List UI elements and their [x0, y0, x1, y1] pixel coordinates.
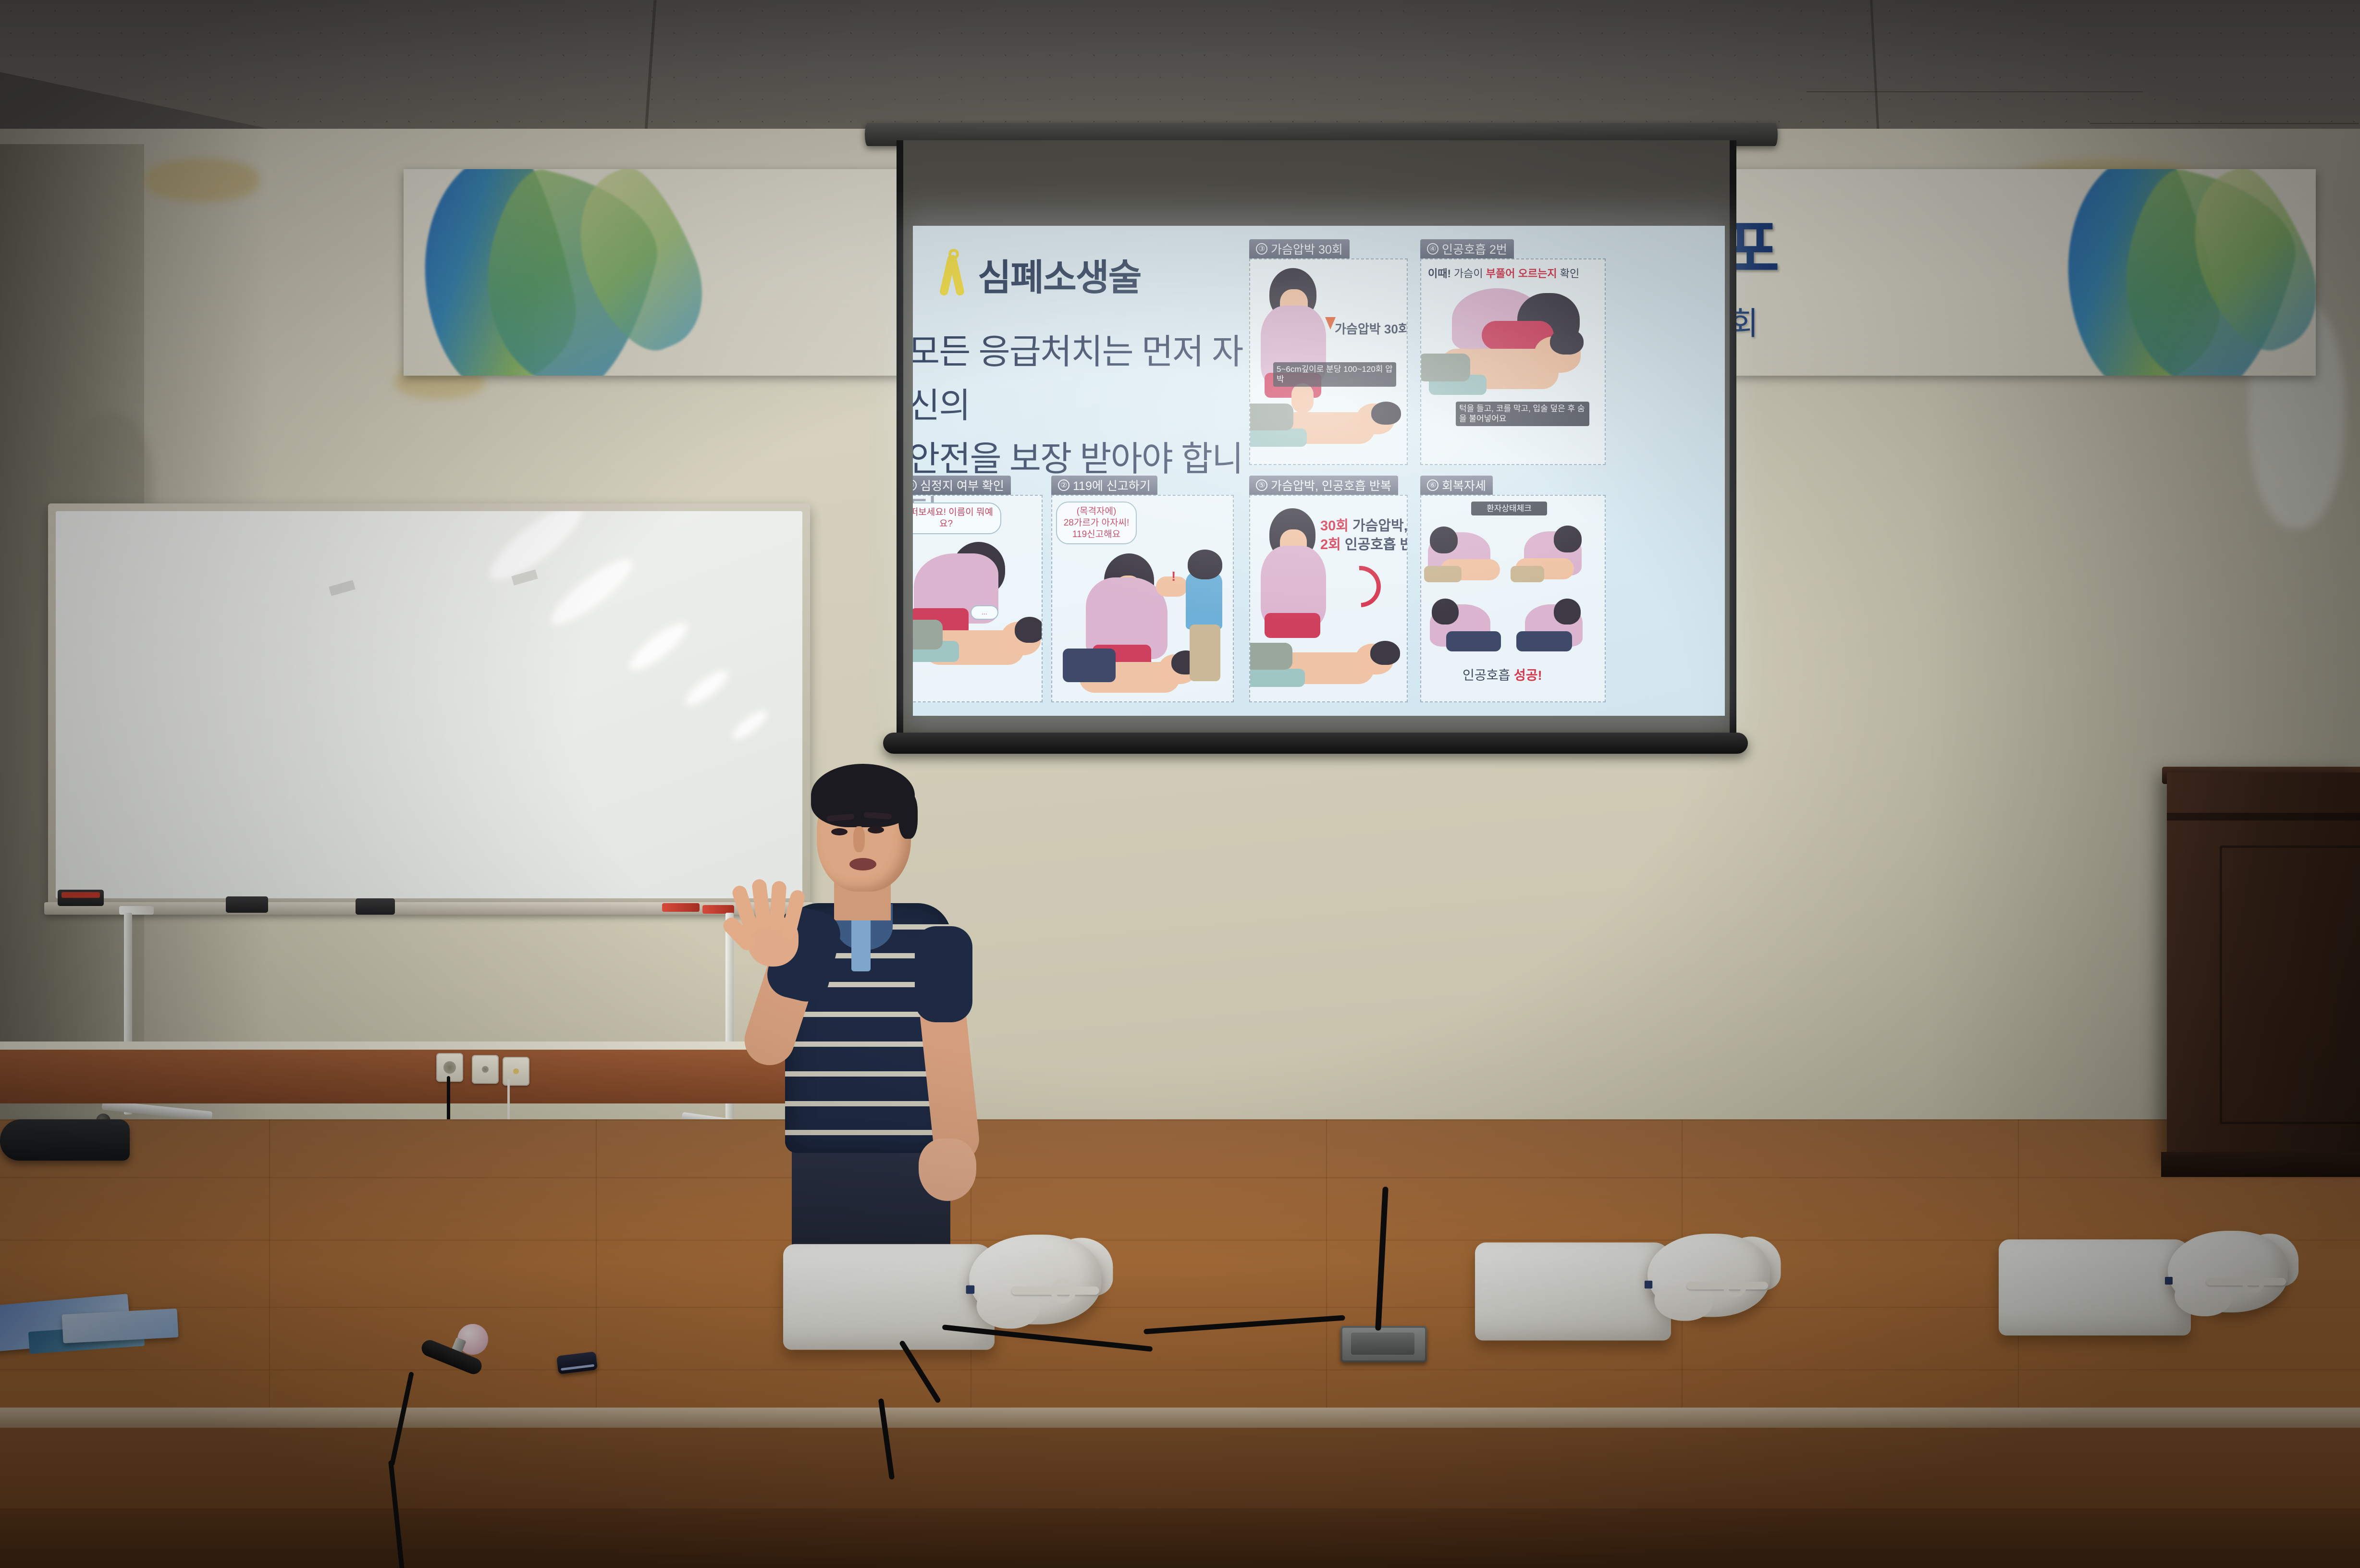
ceiling-perforation-texture: [0, 0, 2360, 144]
panel-3-illustration: 가슴압박 30회 5~6cm깊이로 분당 100~120회 압박: [1249, 258, 1408, 465]
whiteboard-eraser[interactable]: [58, 890, 104, 906]
lecture-hall-photo: 생명공학 줄기세포 일시 2014년 5월 주관 생명윤리연구회 심폐소생술 모…: [0, 0, 2360, 1568]
panel-5-header: ⑤ 가슴압박, 인공호흡 반복: [1249, 476, 1398, 495]
presenter-mouth: [849, 858, 876, 870]
panel-4-dark-label: 턱을 들고, 코를 막고, 입술 덮은 후 숨을 불어넣어요: [1456, 402, 1589, 426]
lectern-base: [2161, 1152, 2360, 1177]
panel-3-dark-label: 5~6cm깊이로 분당 100~120회 압박: [1273, 362, 1396, 387]
presenter-nose: [853, 826, 865, 852]
panel-3-number: ③: [1256, 243, 1267, 255]
presenter-raised-left-hand: [736, 879, 808, 961]
banner-artwork-right: [1951, 169, 2316, 376]
presenter-right-sleeve: [915, 926, 972, 1022]
compression-arrow-icon: [1325, 317, 1336, 330]
panel-5-note-num-2: 2회: [1320, 537, 1341, 552]
slide-panel-5: ⑤ 가슴압박, 인공호흡 반복 30회 가슴압박, 2회 인공호흡 반복: [1249, 476, 1408, 702]
projector-screen-bottom-bar[interactable]: [883, 733, 1748, 754]
whiteboard-eraser[interactable]: [226, 896, 268, 913]
panel-6-title: 회복자세: [1442, 477, 1486, 494]
panel-2-number: ②: [1058, 479, 1069, 491]
baseboard: [0, 1050, 846, 1103]
slide-panel-2: ② 119에 신고하기 (목격자에) 28가르가 아자씨! 119신고해요: [1051, 476, 1234, 702]
floor-cable-port[interactable]: [1340, 1326, 1427, 1362]
yellow-ribbon-icon: [943, 246, 964, 296]
panel-2-header: ② 119에 신고하기: [1051, 476, 1157, 495]
panel-6-dark-label: 환자상태체크: [1471, 502, 1547, 515]
banner-artwork-left: [404, 169, 769, 376]
folded-poster[interactable]: [62, 1309, 179, 1343]
panel-2-bubble-line-3: 119신고해요: [1072, 529, 1120, 539]
screen-edge-right: [1730, 140, 1736, 749]
panel-5-note-text-1: 가슴압박,: [1352, 518, 1408, 534]
panel-4-caption-c: 부풀어 오르는지: [1486, 268, 1557, 280]
wall-jack-socket[interactable]: [472, 1055, 499, 1084]
wall-jack-socket[interactable]: [503, 1057, 529, 1086]
panel-4-number: ④: [1427, 243, 1438, 255]
panel-4-header: ④ 인공호흡 2번: [1420, 239, 1514, 258]
cpr-manikin[interactable]: [1475, 1234, 1779, 1347]
panel-5-title: 가슴압박, 인공호흡 반복: [1271, 477, 1391, 494]
panel-2-title: 119에 신고하기: [1073, 477, 1151, 494]
panel-1-header: ① 심정지 여부 확인: [913, 476, 1011, 495]
whiteboard-eraser[interactable]: [356, 898, 395, 915]
panel-2-bubble-line-1: (목격자에): [1077, 506, 1117, 516]
stage-edge: [0, 1408, 2360, 1430]
slide-panel-6: ⑥ 회복자세 환자상태체크 인공호흡: [1420, 476, 1606, 702]
panel-6-success-prefix: 인공호흡: [1463, 668, 1510, 683]
panel-6-illustration: 환자상태체크 인공호흡 성공!: [1420, 495, 1606, 702]
panel-6-number: ⑥: [1427, 479, 1438, 491]
wall-stain: [144, 159, 259, 202]
panel-3-header: ③ 가슴압박 30회: [1249, 239, 1350, 258]
slide-title: 심폐소생술: [978, 248, 1141, 301]
panel-2-speech-bubble: (목격자에) 28가르가 아자씨! 119신고해요: [1056, 502, 1137, 544]
lower-floor: [0, 1508, 2360, 1568]
panel-5-note: 30회 가슴압박, 2회 인공호흡 반복: [1320, 517, 1408, 554]
whiteboard-surface[interactable]: [56, 511, 802, 898]
panel-4-caption-b: 가슴이: [1454, 268, 1483, 280]
panel-1-small-bubble: ...: [971, 605, 998, 620]
panel-6-success-text: 성공!: [1514, 668, 1542, 683]
panel-5-note-text-2: 인공호흡 반복: [1345, 537, 1408, 552]
presenter-placket: [851, 918, 871, 971]
panel-2-bubble-line-2: 28가르가 아자씨!: [1064, 518, 1130, 528]
cpr-manikin[interactable]: [1999, 1231, 2297, 1341]
repeat-arrow-icon: [1331, 557, 1389, 615]
manikin-mouth-ring: [1723, 1274, 1746, 1298]
panel-1-illustration: 눈 떠보세요! 이름이 뭐예요? ...: [913, 495, 1043, 702]
presenter[interactable]: [740, 759, 1028, 1297]
slide-panel-3: ③ 가슴압박 30회 가슴압박 30회 5~6cm깊이로 분당 100~120회…: [1249, 239, 1408, 465]
whiteboard-tape-mark: [329, 580, 355, 596]
panel-3-annotation: 가슴압박 30회: [1335, 321, 1408, 338]
panel-6-header: ⑥ 회복자세: [1420, 476, 1493, 495]
ceiling: [0, 0, 2360, 144]
panel-2-illustration: (목격자에) 28가르가 아자씨! 119신고해요 !: [1051, 495, 1234, 702]
panel-1-number: ①: [913, 479, 917, 491]
panel-5-illustration: 30회 가슴압박, 2회 인공호흡 반복: [1249, 495, 1408, 702]
projected-slide: 심폐소생술 모든 응급처치는 먼저 자신의 안전을 보장 받아야 합니다. ③ …: [913, 226, 1725, 716]
manikin-mouth-ring: [1051, 1278, 1076, 1303]
lectern-front-panel: [2220, 845, 2360, 1124]
slide-panel-1: ① 심정지 여부 확인 눈 떠보세요! 이름이 뭐예요? ...: [913, 476, 1043, 702]
panel-1-title: 심정지 여부 확인: [920, 477, 1004, 494]
presenter-right-hand: [919, 1139, 976, 1201]
slide-panel-4: ④ 인공호흡 2번 이때! 가슴이 부풀어 오르는지 확인 턱을 들고, 코를: [1420, 239, 1606, 465]
panel-4-caption-d: 확인: [1560, 268, 1579, 280]
lectern-molding: [2167, 813, 2360, 821]
manikin-mouth-ring: [2242, 1270, 2265, 1293]
whiteboard-marker[interactable]: [662, 903, 700, 912]
whiteboard[interactable]: [48, 503, 810, 906]
panel-1-speech-bubble: 눈 떠보세요! 이름이 뭐예요?: [913, 502, 1001, 534]
panel-4-illustration: 이때! 가슴이 부풀어 오르는지 확인 턱을 들고, 코를 막고, 입술 덮은 …: [1420, 258, 1606, 465]
panel-3-title: 가슴압박 30회: [1271, 240, 1343, 257]
slide-body-line-1: 모든 응급처치는 먼저 자신의: [913, 326, 1244, 433]
panel-5-number: ⑤: [1256, 479, 1267, 491]
screen-edge-left: [897, 140, 903, 749]
panel-6-success-note: 인공호흡 성공!: [1463, 665, 1542, 684]
black-bag[interactable]: [0, 1119, 130, 1161]
panel-4-title: 인공호흡 2번: [1442, 240, 1507, 257]
bystander-figure: [1186, 572, 1222, 629]
panel-4-caption-a: 이때!: [1428, 268, 1451, 280]
panel-5-note-num-1: 30회: [1320, 518, 1349, 534]
